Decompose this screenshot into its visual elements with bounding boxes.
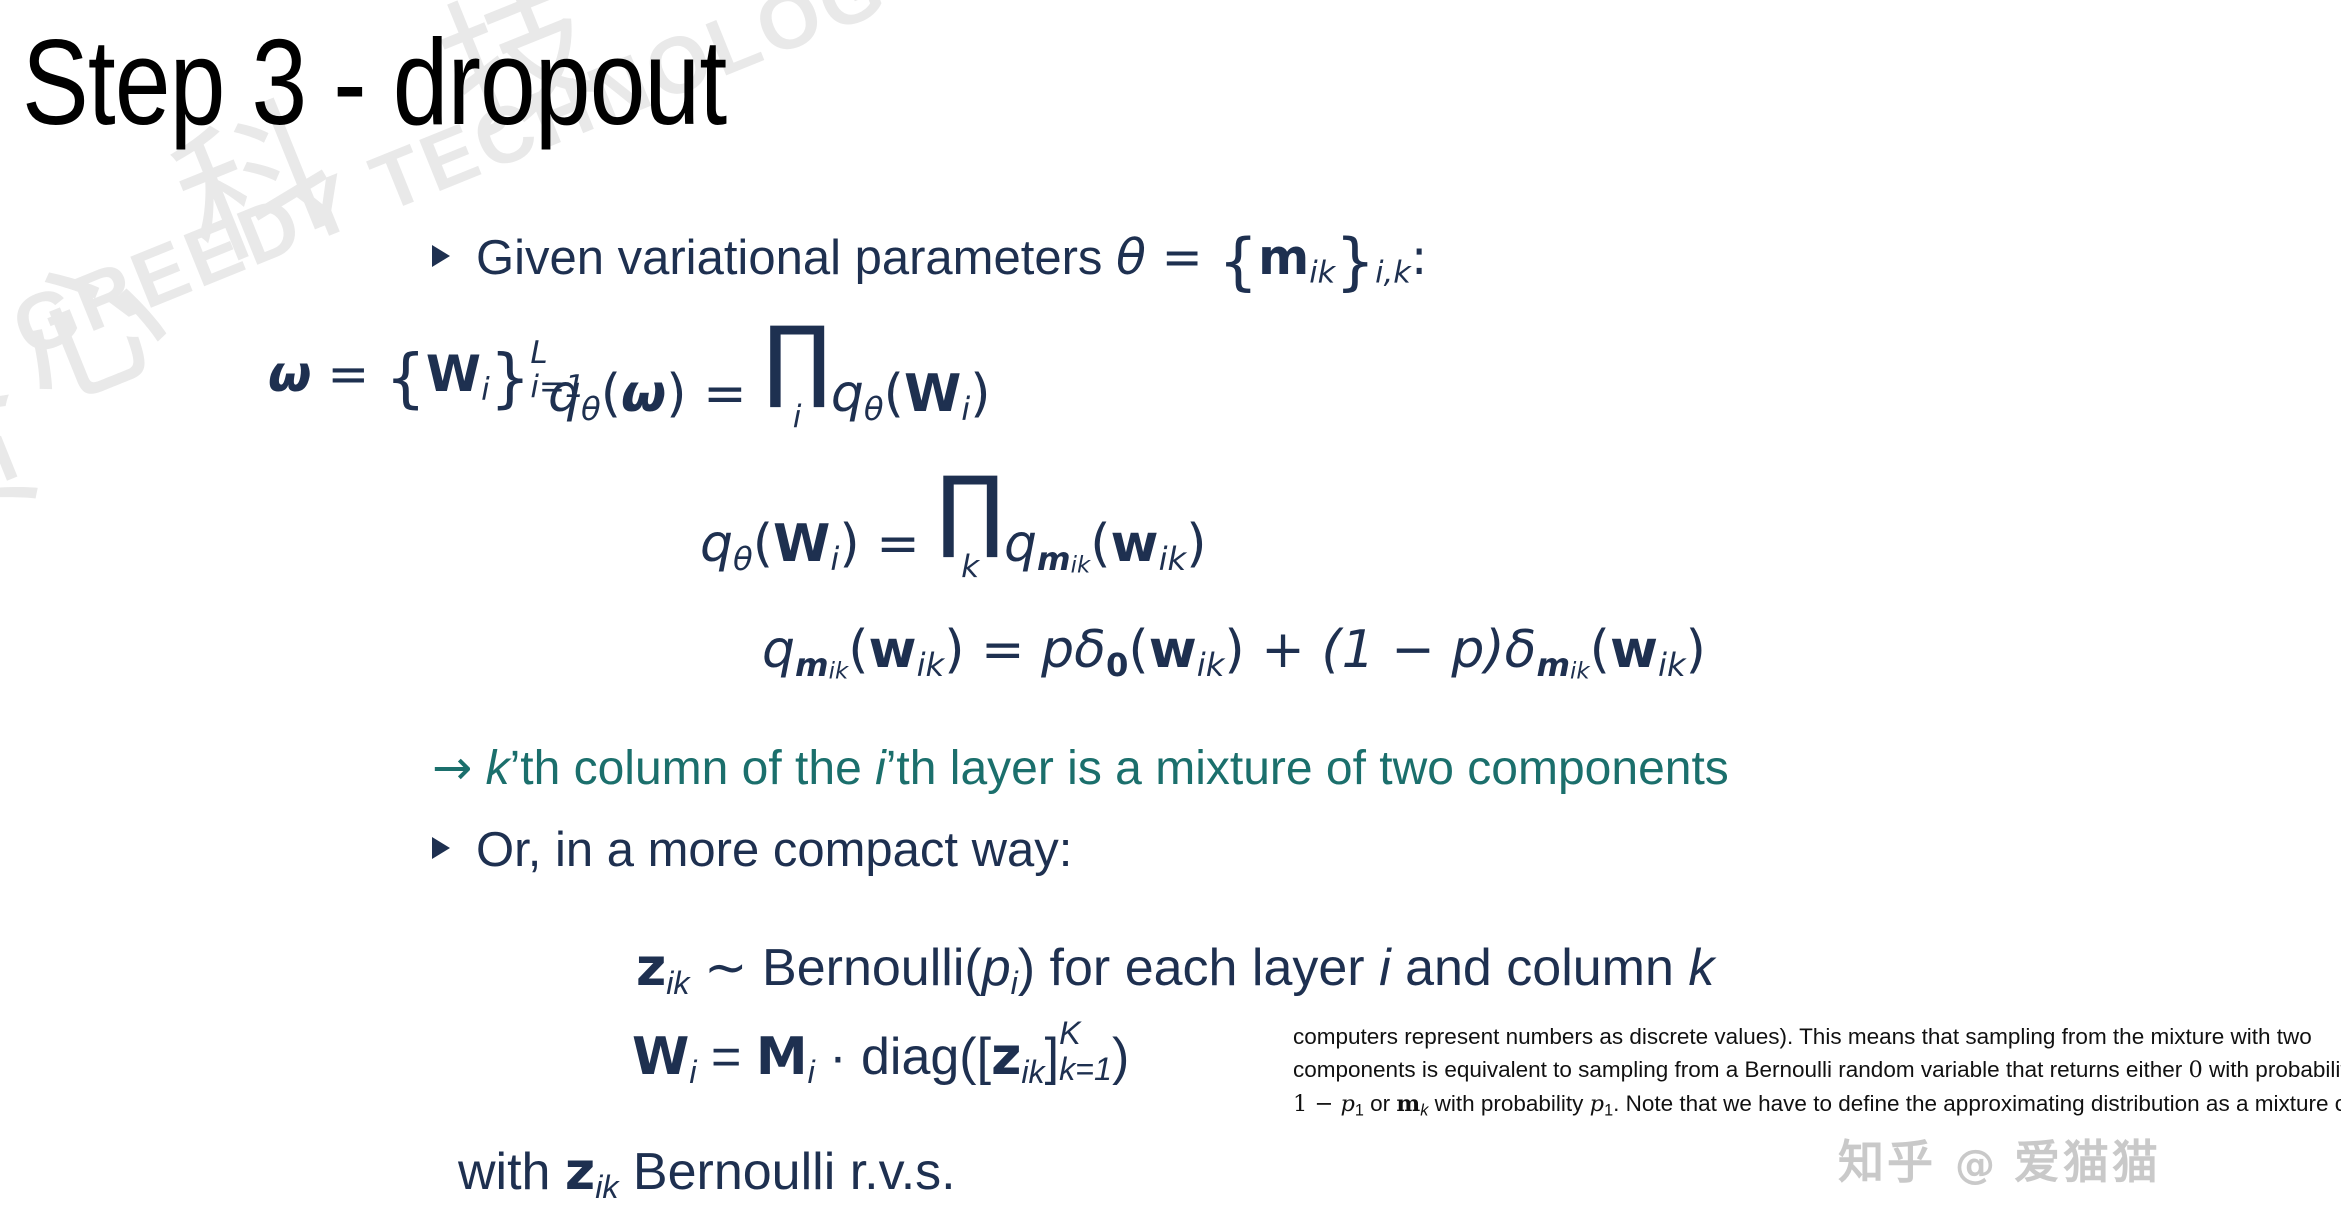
footnote-line-3b: or (1364, 1091, 1397, 1116)
W-bold-symbol: W (426, 345, 481, 403)
z-subscript: ik (1021, 1054, 1044, 1090)
teal-consequence-note: → k’th column of the i’th layer is a mix… (432, 740, 1729, 796)
zhihu-watermark: 知乎 @ 爱猫猫 (1838, 1126, 2161, 1192)
omega-symbol: ω (268, 345, 311, 403)
paren-open: ( (753, 514, 773, 574)
one-minus-p-group: (1 − p) (1321, 620, 1504, 680)
equation-q-theta-omega: qθ(ω) = ∏iqθ(Wi) (548, 325, 991, 434)
bullet-1-text: Given variational parameters θ = {mik}i,… (476, 225, 1427, 298)
theta-symbol: θ (1116, 229, 1146, 286)
right-arrow-icon: → (432, 740, 472, 796)
bullet-2-text: Or, in a more compact way: (476, 822, 1072, 878)
footnote-p2: p (1590, 1091, 1604, 1117)
delta-symbol-2: δ (1505, 620, 1537, 680)
k-index: k (486, 742, 510, 795)
z-bold-symbol: z (991, 1027, 1021, 1087)
equals-sign: = (876, 514, 920, 574)
delta2-sub-subscript: ik (1570, 658, 1590, 684)
z-bold-symbol: z (636, 938, 666, 998)
p-symbol: p (982, 939, 1011, 997)
delta-symbol: δ (1074, 620, 1106, 680)
omega-symbol: ω (621, 364, 666, 424)
rhs-q-symbol: q (1004, 514, 1037, 574)
q-subscript-m: m (795, 646, 829, 684)
m-bold-symbol: m (1258, 229, 1309, 286)
watermark-cjk-char-4: 贪 (0, 320, 65, 577)
w-subscript: ik (1159, 540, 1187, 578)
m-subscript: ik (1309, 256, 1335, 291)
paren-close: ) (1112, 1028, 1129, 1086)
with-prefix: with (458, 1143, 565, 1201)
W-bold-symbol: W (773, 514, 830, 574)
teal-text-a: ’th column of the (510, 742, 876, 795)
footnote-p1: p (1340, 1091, 1354, 1117)
zhihu-logo-text: 知乎 (1838, 1135, 1936, 1189)
w-subscript: ik (1197, 646, 1225, 684)
q-symbol: q (762, 620, 795, 680)
tilde-operator: ∼ (704, 939, 748, 997)
product-operator: ∏i (763, 325, 831, 434)
M-subscript: i (808, 1054, 815, 1090)
equals-sign: = (703, 364, 747, 424)
W-bold-symbol: W (632, 1027, 689, 1087)
triangle-right-icon (432, 245, 450, 267)
product-glyph: ∏ (763, 325, 831, 397)
w-bold-symbol: w (1149, 620, 1197, 680)
bracket-close: ] (1045, 1028, 1059, 1086)
outer-subscript: i,k (1375, 256, 1411, 291)
equation-W-equals-M-diag: Wi = Mi · diag([zik]Kk=1) (632, 1020, 1129, 1091)
equals-sign: = (981, 620, 1025, 680)
brace-open: { (1218, 225, 1258, 298)
equation-z-bernoulli: zik ∼ Bernoulli(pi) for each layer i and… (636, 938, 1714, 1002)
q-sub-subscript: ik (829, 658, 849, 684)
paren-open: ( (1128, 620, 1148, 680)
diag-limits: Kk=1 (1059, 1020, 1112, 1086)
equals-sign: = (711, 1028, 741, 1086)
rhs-q-subscript-m: m (1037, 540, 1071, 578)
limit-top: K (1059, 1017, 1112, 1050)
equals-sign: = (327, 345, 369, 403)
product-glyph: ∏ (936, 475, 1004, 547)
paren-open: ( (884, 364, 904, 424)
rhs-q-symbol: q (831, 364, 864, 424)
watermark-cjk-char-3: 心 (0, 190, 195, 447)
equation-q-theta-Wi: qθ(Wi) = ∏kqmik(wik) (700, 475, 1207, 584)
z-subscript: ik (666, 965, 689, 1001)
footnote-p1-subscript: 1 (1355, 1102, 1364, 1120)
teal-text-b: ’th layer is a mixture of two components (886, 742, 1729, 795)
q-symbol: q (700, 514, 733, 574)
footnote-line-2: components is equivalent to sampling fro… (1293, 1053, 2333, 1087)
delta2-subscript-m: m (1536, 646, 1570, 684)
bullet-given-variational-parameters: Given variational parameters θ = {mik}i,… (432, 225, 1427, 298)
W-subscript: i (961, 390, 970, 428)
at-icon: @ (1955, 1142, 1995, 1188)
layer-index: i (1379, 939, 1391, 997)
zhihu-username: 爱猫猫 (2014, 1135, 2161, 1189)
p-subscript: i (1011, 965, 1018, 1001)
bullet-1-math: θ = {mik}i,k: (1116, 229, 1427, 286)
bullet-or-in-a-more-compact-way: Or, in a more compact way: (432, 822, 1072, 878)
footnote-p2-subscript: 1 (1604, 1102, 1613, 1120)
M-bold-symbol: M (756, 1027, 808, 1087)
paren-close: ) (839, 514, 859, 574)
footnote-one-minus: 1 − (1293, 1091, 1340, 1117)
paren-open: ( (848, 620, 868, 680)
bernoulli-label: Bernoulli( (762, 939, 982, 997)
with-suffix: Bernoulli r.v.s. (618, 1143, 955, 1201)
equation-omega-set: ω = {Wi}Li=1 (268, 340, 585, 416)
w-bold-symbol: w (1111, 514, 1159, 574)
footnote-line-1: computers represent numbers as discrete … (1293, 1020, 2333, 1053)
limit-bottom: k=1 (1059, 1053, 1112, 1086)
paren-open: ( (1590, 620, 1610, 680)
tail-text-b: and column (1391, 939, 1689, 997)
plus-sign: + (1261, 620, 1305, 680)
q-subscript-theta: θ (581, 390, 601, 428)
footnote-paragraph: computers represent numbers as discrete … (1293, 1020, 2333, 1128)
page-title: Step 3 - dropout (22, 12, 726, 152)
equals-sign: = (1162, 229, 1203, 286)
footnote-line-3: 1 − p1 or mk with probability p1. Note t… (1293, 1087, 2333, 1128)
equation-with-z-bernoulli-rvs: with zik Bernoulli r.v.s. (458, 1142, 956, 1206)
tail-text-a: for each layer (1035, 939, 1379, 997)
i-index: i (875, 742, 886, 795)
rhs-q-subscript-theta: θ (864, 390, 884, 428)
w-bold-symbol: w (869, 620, 917, 680)
rhs-q-sub-subscript: ik (1071, 553, 1091, 579)
paren-close: ) (944, 620, 964, 680)
brace-close: } (1335, 225, 1375, 298)
paren-open: ( (601, 364, 621, 424)
product-operator: ∏k (936, 475, 1004, 584)
brace-close: } (490, 342, 531, 416)
footnote-line-2a: components is equivalent to sampling fro… (1293, 1057, 2188, 1082)
paren-close: ) (1686, 620, 1706, 680)
delta-subscript-zero: 0 (1106, 646, 1128, 684)
column-index: k (1688, 939, 1714, 997)
w-subscript: ik (1658, 646, 1686, 684)
dot-operator: · (829, 1028, 846, 1086)
triangle-right-icon (432, 837, 450, 859)
W-subscript: i (481, 372, 490, 408)
paren-close: ) (1224, 620, 1244, 680)
w-bold-symbol: w (1610, 620, 1658, 680)
footnote-m-bold: m (1396, 1091, 1420, 1117)
brace-open: { (385, 342, 426, 416)
colon: : (1411, 229, 1428, 286)
paren-close: ) (970, 364, 990, 424)
paren-close: ) (666, 364, 686, 424)
paren-close: ) (1018, 939, 1035, 997)
equation-q-mik-mixture: qmik(wik) = pδ0(wik) + (1 − p)δmik(wik) (762, 620, 1706, 684)
paren-close: ) (1186, 514, 1206, 574)
W-subscript: i (689, 1054, 696, 1090)
bracket-open: [ (977, 1028, 991, 1086)
paren-open: ( (1090, 514, 1110, 574)
p-symbol: p (1041, 620, 1074, 680)
z-subscript: ik (595, 1169, 618, 1205)
footnote-line-3c: with probability (1428, 1091, 1589, 1116)
diag-label: diag( (861, 1028, 977, 1086)
q-subscript-theta: θ (733, 540, 753, 578)
q-symbol: q (548, 364, 581, 424)
z-bold-symbol: z (565, 1142, 595, 1202)
w-subscript: ik (917, 646, 945, 684)
bullet-1-prefix: Given variational parameters (476, 231, 1116, 285)
footnote-line-2b: with probability (2203, 1057, 2341, 1082)
slide-canvas: 技 科 心 贪 GREEDY TECHNOLOGY 知乎 @ 爱猫猫 Step … (0, 0, 2341, 1224)
footnote-zero: 0 (2188, 1057, 2202, 1083)
W-bold-symbol: W (904, 364, 961, 424)
footnote-line-3d: . Note that we have to define the approx… (1613, 1091, 2341, 1116)
